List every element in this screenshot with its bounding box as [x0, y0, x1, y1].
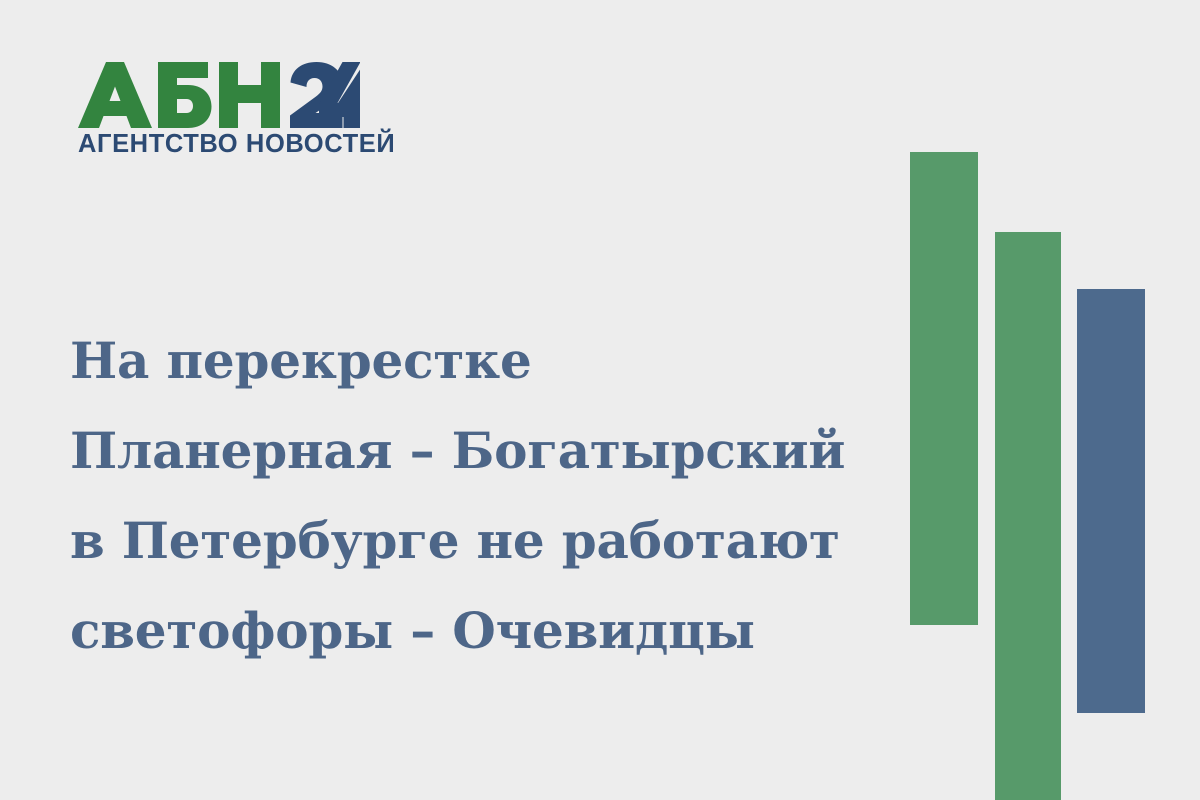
decorative-bar-green-tall — [910, 152, 978, 625]
news-card: АГЕНТСТВО НОВОСТЕЙ На перекрестке Планер… — [0, 0, 1200, 800]
brand-logo[interactable]: АГЕНТСТВО НОВОСТЕЙ — [78, 62, 368, 158]
decorative-bar-blue-short — [1077, 289, 1145, 713]
page-title: На перекрестке Планерная – Богатырский в… — [70, 316, 860, 676]
abn24-logo-icon — [78, 62, 360, 128]
decorative-bar-green-medium — [995, 232, 1061, 800]
brand-tagline: АГЕНТСТВО НОВОСТЕЙ — [78, 132, 368, 158]
